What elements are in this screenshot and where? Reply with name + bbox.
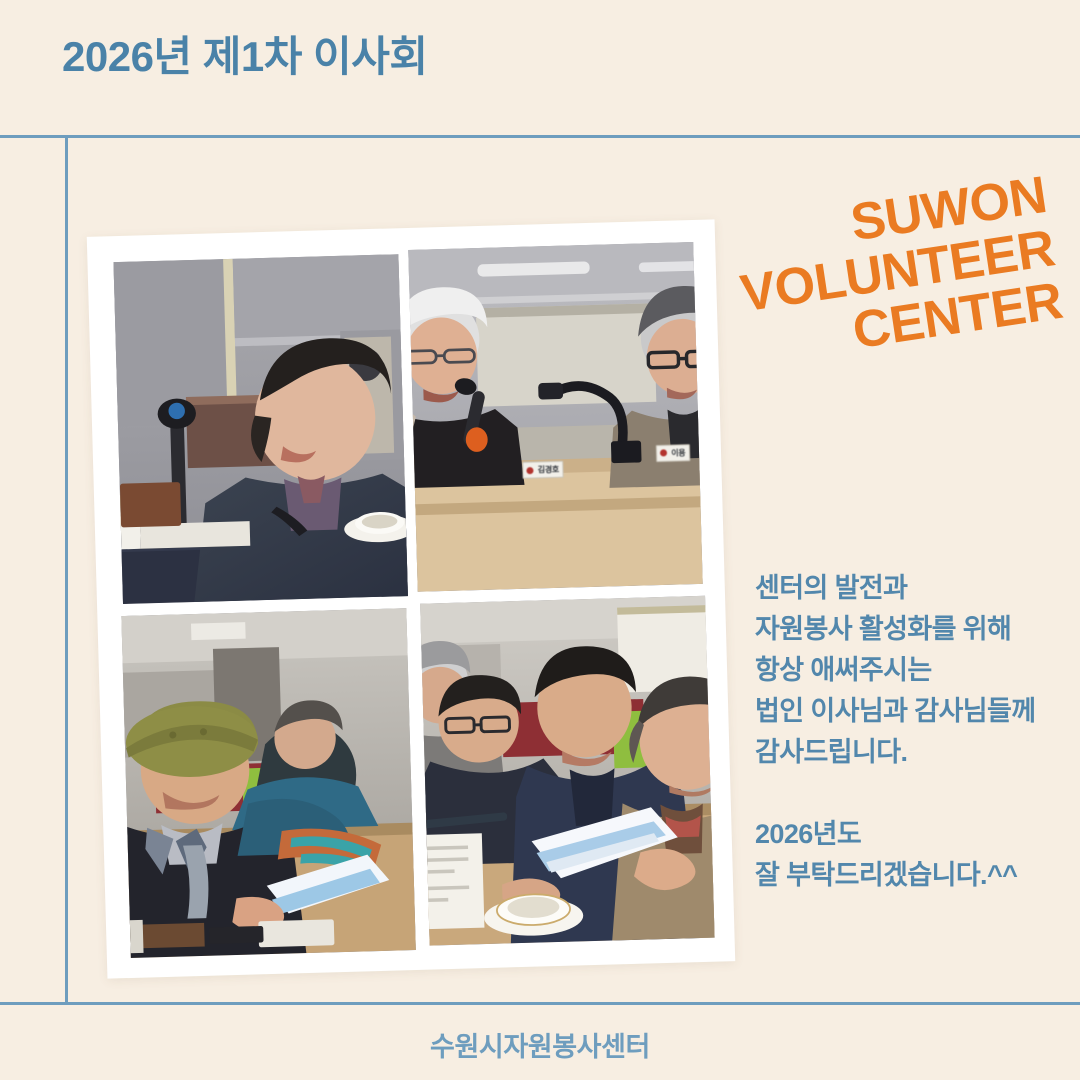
message-line-2: 자원봉사 활성화를 위해 (755, 609, 1065, 650)
message-line-3: 항상 애써주시는 (755, 650, 1065, 691)
footer-organization-name: 수원시자원봉사센터 (0, 1025, 1080, 1064)
message-paragraph-2: 2026년도 잘 부탁드리겠습니다.^^ (755, 814, 1065, 896)
message-paragraph-1: 센터의 발전과 자원봉사 활성화를 위해 항상 애써주시는 법인 이사님과 감사… (755, 568, 1065, 773)
divider-bottom (0, 1002, 1080, 1005)
nameplate-right: 이용 (656, 444, 691, 462)
divider-vertical (65, 135, 68, 1005)
photo-members-reading-documents-right (420, 596, 714, 946)
nameplate-left: 김경호 (523, 461, 565, 479)
photo-members-reading-documents-left (121, 608, 415, 958)
photo-two-board-members: 김경호 이용 (408, 242, 702, 592)
message-line-6: 2026년도 (755, 814, 1065, 855)
photo-collage: 김경호 이용 (87, 219, 735, 978)
message-line-4: 법인 이사님과 감사님들께 (755, 691, 1065, 732)
message-line-1: 센터의 발전과 (755, 568, 1065, 609)
photo-speaker-at-podium (113, 254, 407, 604)
message-line-7: 잘 부탁드리겠습니다.^^ (755, 855, 1065, 896)
poster-card: 2026년 제1차 이사회 SUWON VOLUNTEER CENTER 센터의… (0, 0, 1080, 1080)
message-line-5: 감사드립니다. (755, 732, 1065, 773)
page-title: 2026년 제1차 이사회 (62, 33, 427, 81)
divider-top (0, 135, 1080, 138)
photo-collage-grid: 김경호 이용 (113, 246, 708, 952)
message-block: 센터의 발전과 자원봉사 활성화를 위해 항상 애써주시는 법인 이사님과 감사… (755, 568, 1065, 896)
